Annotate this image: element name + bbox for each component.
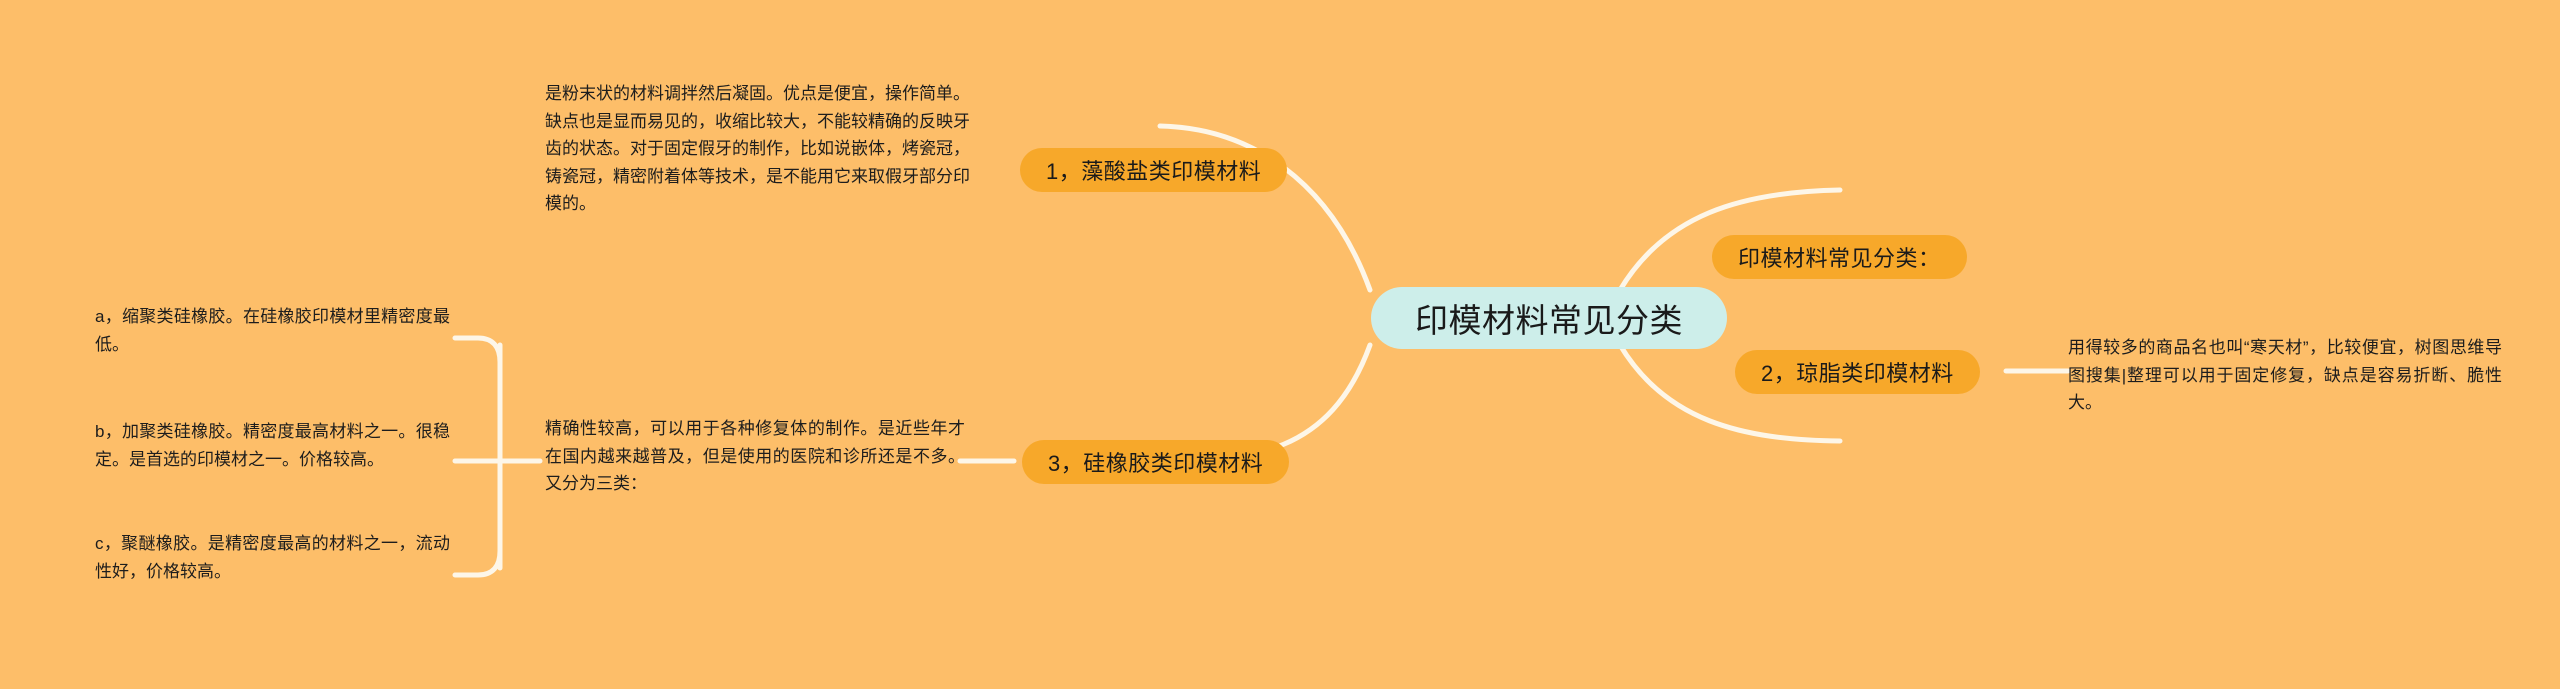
root-node[interactable]: 印模材料常见分类 [1371,287,1727,349]
branch-2-detail-text: 用得较多的商品名也叫“寒天材”，比较便宜，树图思维导图搜集|整理可以用于固定修复… [2068,334,2502,417]
branch-node-2[interactable]: 2，琼脂类印模材料 [1735,350,1980,394]
sub-item-a: a，缩聚类硅橡胶。在硅橡胶印模材里精密度最低。 [95,303,450,358]
mindmap-canvas: 印模材料常见分类 1，藻酸盐类印模材料 印模材料常见分类： 2，琼脂类印模材料 … [0,0,2560,689]
root-node-label: 印模材料常见分类 [1415,294,1683,342]
branch-node-3-label: 3，硅橡胶类印模材料 [1048,446,1263,478]
branch-1-detail-text: 是粉末状的材料调拌然后凝固。优点是便宜，操作简单。缺点也是显而易见的，收缩比较大… [545,80,970,218]
branch-node-classification-label: 印模材料常见分类： [1738,241,1941,273]
branch-node-1-label: 1，藻酸盐类印模材料 [1046,154,1261,186]
branch-node-classification[interactable]: 印模材料常见分类： [1712,235,1967,279]
connector-bracket-bottom-arm [455,551,500,575]
branch-node-3[interactable]: 3，硅橡胶类印模材料 [1022,440,1289,484]
branch-node-1[interactable]: 1，藻酸盐类印模材料 [1020,148,1287,192]
connector-bracket-top-arm [455,338,500,362]
sub-item-b: b，加聚类硅橡胶。精密度最高材料之一。很稳定。是首选的印模材之一。价格较高。 [95,418,450,473]
sub-item-c: c，聚醚橡胶。是精密度最高的材料之一，流动性好，价格较高。 [95,530,450,585]
branch-node-2-label: 2，琼脂类印模材料 [1761,356,1954,388]
branch-3-detail-text: 精确性较高，可以用于各种修复体的制作。是近些年才在国内越来越普及，但是使用的医院… [545,415,965,498]
